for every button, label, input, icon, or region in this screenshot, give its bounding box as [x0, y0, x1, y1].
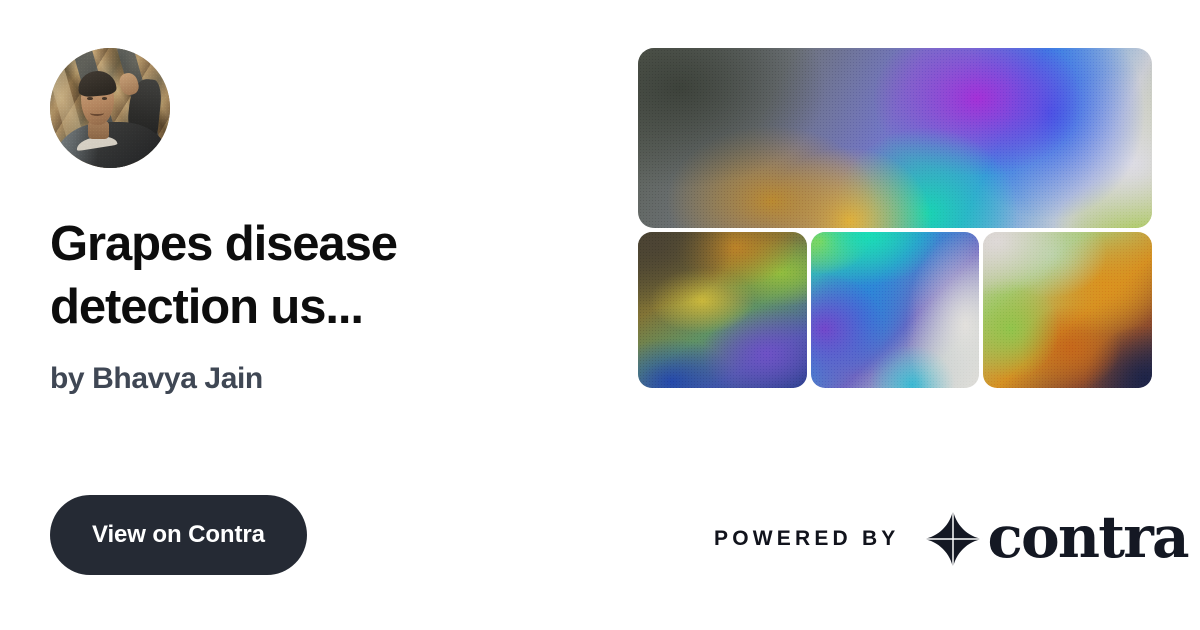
hero-image-gradient — [638, 48, 1152, 228]
thumbnail-1-gradient — [638, 232, 807, 388]
avatar — [50, 48, 170, 168]
avatar-photo — [50, 48, 170, 168]
contra-four-point-star-icon — [922, 508, 984, 570]
page-title: Grapes disease detection us... — [50, 213, 490, 338]
project-media-collage — [638, 48, 1152, 388]
avatar-grain-overlay — [50, 48, 170, 168]
hero-image[interactable] — [638, 48, 1152, 228]
author-byline: by Bhavya Jain — [50, 362, 520, 396]
thumbnail-2-gradient — [811, 232, 980, 388]
contra-share-card: Grapes disease detection us... by Bhavya… — [0, 0, 1200, 630]
project-info-column: Grapes disease detection us... by Bhavya… — [50, 48, 520, 582]
thumbnail-image-2[interactable] — [811, 232, 980, 388]
thumbnail-image-3[interactable] — [983, 232, 1152, 388]
thumbnail-row — [638, 232, 1152, 388]
contra-wordmark: contra — [988, 508, 1188, 566]
thumbnail-image-1[interactable] — [638, 232, 807, 388]
powered-by-contra: POWERED BY contra — [714, 508, 1188, 570]
thumbnail-3-gradient — [983, 232, 1152, 388]
view-on-contra-button[interactable]: View on Contra — [50, 495, 307, 575]
powered-by-label: POWERED BY — [714, 527, 900, 551]
